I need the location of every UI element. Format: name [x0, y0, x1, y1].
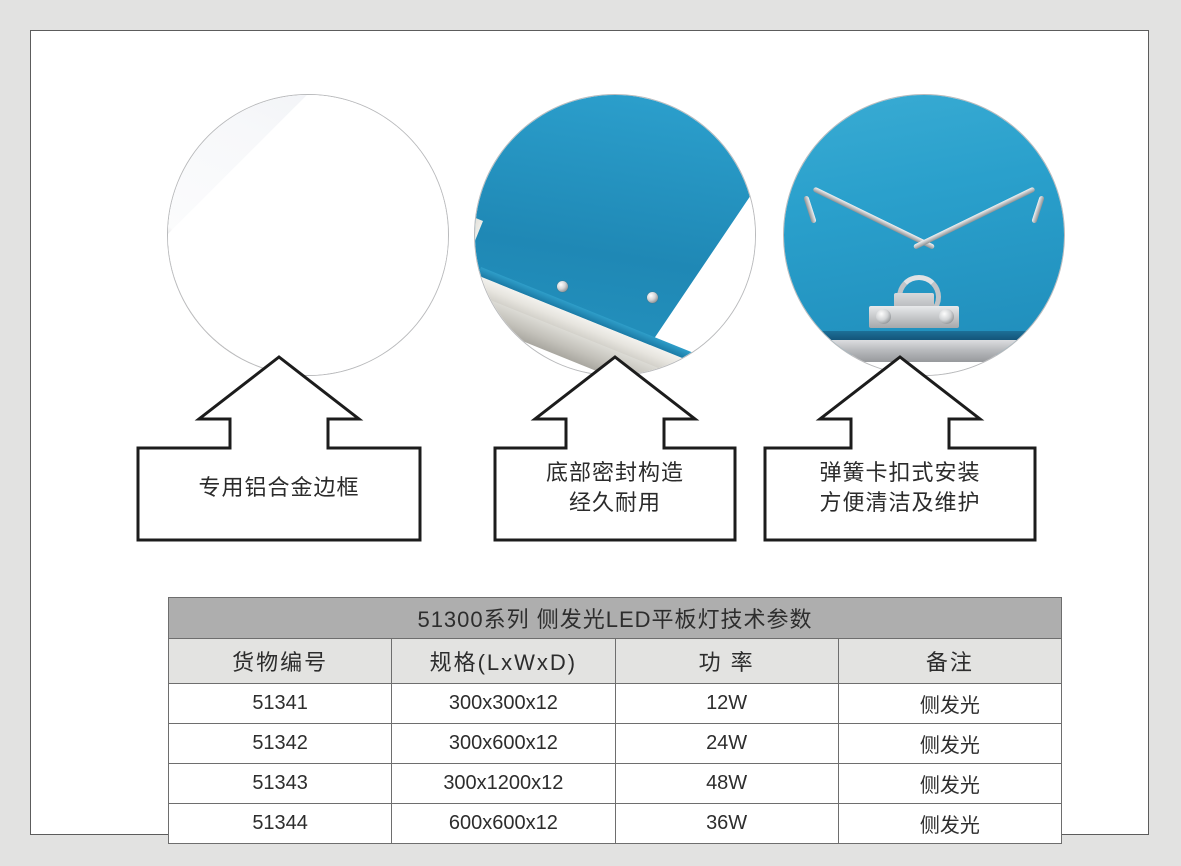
spec-table: 51300系列 侧发光LED平板灯技术参数 货物编号 规格(LxWxD) 功 率… — [168, 597, 1062, 844]
cell-spec: 300x300x12 — [392, 684, 615, 724]
photo-spring-clip-mount — [783, 94, 1065, 376]
cell-code: 51341 — [169, 684, 392, 724]
callout-spring-clip: 弹簧卡扣式安装 方便清洁及维护 — [764, 356, 1036, 541]
callout-arrow-box-shape — [137, 356, 421, 541]
spec-table-body: 51300系列 侧发光LED平板灯技术参数 货物编号 规格(LxWxD) 功 率… — [169, 598, 1062, 844]
product-spec-sheet: 专用铝合金边框 底部密封构造 经久耐用 弹簧卡扣式安装 方便清洁及维护 5130… — [0, 0, 1181, 866]
cell-spec: 600x600x12 — [392, 804, 615, 844]
cell-code: 51342 — [169, 724, 392, 764]
cell-spec: 300x1200x12 — [392, 764, 615, 804]
table-title-row: 51300系列 侧发光LED平板灯技术参数 — [169, 598, 1062, 639]
cell-remark: 侧发光 — [838, 764, 1061, 804]
table-title: 51300系列 侧发光LED平板灯技术参数 — [169, 598, 1062, 639]
callout-sealed-bottom: 底部密封构造 经久耐用 — [494, 356, 736, 541]
sheet-inner-frame: 专用铝合金边框 底部密封构造 经久耐用 弹簧卡扣式安装 方便清洁及维护 5130… — [30, 30, 1149, 835]
table-row: 51342 300x600x12 24W 侧发光 — [169, 724, 1062, 764]
table-row: 51343 300x1200x12 48W 侧发光 — [169, 764, 1062, 804]
callout-label-1: 专用铝合金边框 — [137, 473, 421, 503]
table-row: 51341 300x300x12 12W 侧发光 — [169, 684, 1062, 724]
panel-screw-icon — [557, 281, 568, 292]
table-header-row: 货物编号 规格(LxWxD) 功 率 备注 — [169, 639, 1062, 684]
column-header-power: 功 率 — [615, 639, 838, 684]
bracket-screw-icon — [939, 309, 954, 324]
bracket-screw-icon — [876, 309, 891, 324]
column-header-remark: 备注 — [838, 639, 1061, 684]
cell-power: 24W — [615, 724, 838, 764]
cell-power: 36W — [615, 804, 838, 844]
cell-power: 48W — [615, 764, 838, 804]
column-header-code: 货物编号 — [169, 639, 392, 684]
table-row: 51344 600x600x12 36W 侧发光 — [169, 804, 1062, 844]
cell-remark: 侧发光 — [838, 724, 1061, 764]
column-header-spec: 规格(LxWxD) — [392, 639, 615, 684]
cell-spec: 300x600x12 — [392, 724, 615, 764]
panel-screw-icon — [647, 292, 658, 303]
cell-code: 51344 — [169, 804, 392, 844]
cell-code: 51343 — [169, 764, 392, 804]
photo-3-content — [784, 95, 1064, 375]
callout-label-3: 弹簧卡扣式安装 方便清洁及维护 — [764, 458, 1036, 518]
callout-aluminium-frame: 专用铝合金边框 — [137, 356, 421, 541]
photo-aluminium-frame-corner — [167, 94, 449, 376]
callout-label-2: 底部密封构造 经久耐用 — [494, 458, 736, 518]
cell-power: 12W — [615, 684, 838, 724]
cell-remark: 侧发光 — [838, 804, 1061, 844]
cell-remark: 侧发光 — [838, 684, 1061, 724]
panel-edge-blue — [784, 331, 1064, 340]
photo-2-content — [475, 95, 755, 375]
photo-1-content — [168, 95, 448, 375]
photo-sealed-bottom-corner — [474, 94, 756, 376]
